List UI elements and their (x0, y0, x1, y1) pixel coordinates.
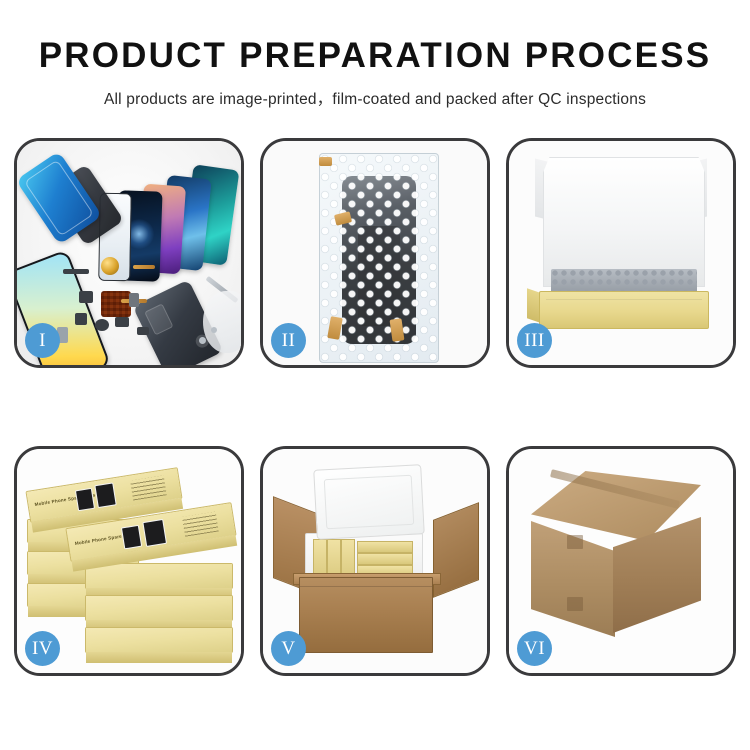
step-panel-4: Mobile Phone Spare Parts Mobile Phone Sp… (14, 446, 244, 676)
component-chip-b (75, 313, 87, 325)
stacked-box-r3 (85, 627, 233, 653)
mailer-white-lid (543, 157, 705, 287)
inner-box-5 (357, 553, 413, 565)
flex-cable-1 (133, 265, 155, 269)
inner-box-4 (357, 541, 413, 553)
step-badge-1: I (25, 323, 60, 358)
carton-tab-upper (567, 535, 583, 549)
page-subtitle: All products are image-printed，film-coat… (0, 87, 750, 109)
logic-board-chip (101, 291, 131, 317)
tape-strip-1 (319, 157, 332, 166)
open-mailer-box-image: III (509, 141, 733, 365)
step-panel-3: III (506, 138, 736, 368)
stacked-box-r1 (85, 563, 233, 589)
step-panel-2: II (260, 138, 490, 368)
step-panel-6: VI (506, 446, 736, 676)
hand (203, 291, 241, 353)
product-parts-collage-image: I (17, 141, 241, 365)
screw-1 (199, 337, 206, 344)
component-camera (95, 319, 109, 331)
step-badge-5: V (271, 631, 306, 666)
page-title: PRODUCT PREPARATION PROCESS (0, 38, 750, 73)
mailer-box-body (539, 291, 709, 329)
product-preparation-infographic: PRODUCT PREPARATION PROCESS All products… (0, 0, 750, 750)
box-stack: Mobile Phone Spare Parts Mobile Phone Sp… (23, 467, 237, 661)
step-badge-6: VI (517, 631, 552, 666)
box-screen-print-1b (94, 482, 116, 508)
box-screen-print-1a (75, 488, 95, 511)
foam-box-lid (313, 464, 425, 540)
carton-body (299, 577, 433, 653)
component-strip (63, 269, 89, 274)
header: PRODUCT PREPARATION PROCESS All products… (0, 0, 750, 109)
screw-2 (211, 327, 217, 333)
step-badge-3: III (517, 323, 552, 358)
stacked-retail-boxes-image: Mobile Phone Spare Parts Mobile Phone Sp… (17, 449, 241, 673)
box-screen-print-2b (142, 519, 167, 547)
carton-with-foam-box-image: V (263, 449, 487, 673)
component-chip-c (115, 317, 129, 327)
component-chip-d (129, 293, 139, 307)
step-badge-2: II (271, 323, 306, 358)
speaker-component (101, 257, 119, 275)
bubble-wrapped-part-image: II (263, 141, 487, 365)
carton-tab-lower (567, 597, 583, 611)
sealed-shipping-carton-image: VI (509, 449, 733, 673)
component-chip-e (137, 327, 149, 335)
component-chip-a (79, 291, 93, 303)
step-badge-4: IV (25, 631, 60, 666)
box-screen-print-2a (121, 525, 142, 550)
stacked-box-r2 (85, 595, 233, 621)
step-panel-1: I (14, 138, 244, 368)
process-steps-grid: I II (14, 138, 736, 676)
step-panel-5: V (260, 446, 490, 676)
